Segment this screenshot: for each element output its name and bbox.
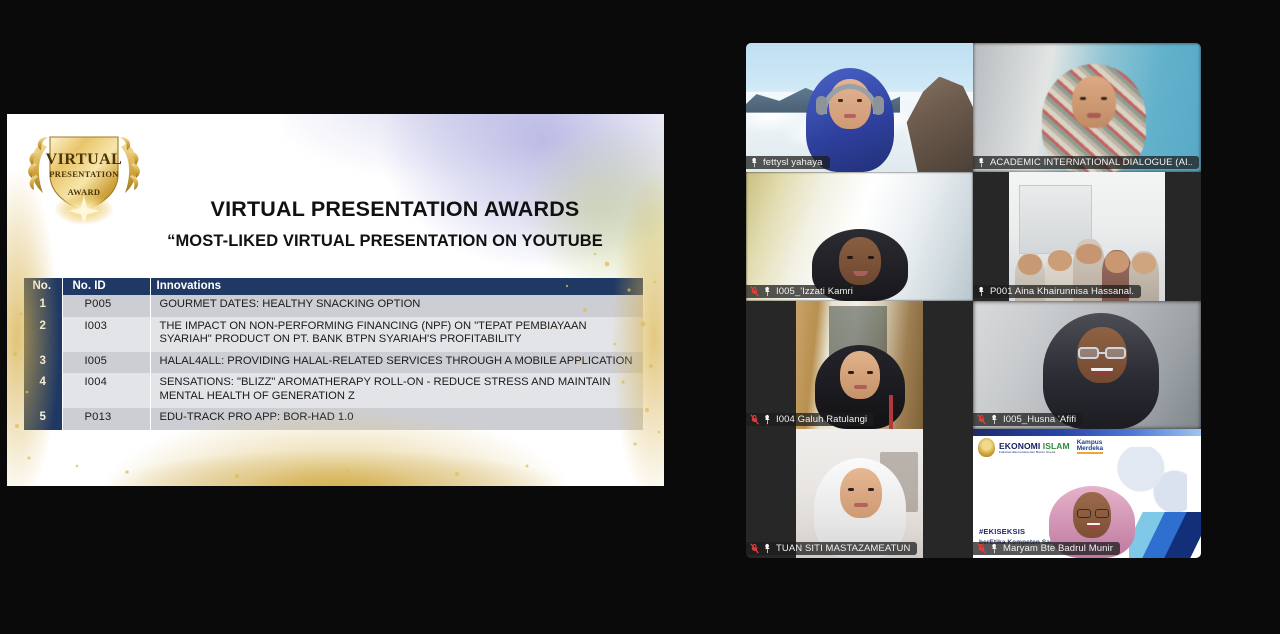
participant-tile[interactable]: EKONOMI ISLAM Fakultas Ekonomika dan Bis… bbox=[973, 429, 1201, 558]
participant-tile[interactable]: ACADEMIC INTERNATIONAL DIALOGUE (AI.. bbox=[973, 43, 1201, 172]
microphone-muted-icon bbox=[750, 414, 759, 425]
participant-namebar: P001 Aina Khairunnisa Hassanal. bbox=[973, 285, 1141, 298]
cell-innovation: SENSATIONS: "BLIZZ" AROMATHERAPY ROLL-ON… bbox=[150, 373, 644, 408]
table-row: 4 I004 SENSATIONS: "BLIZZ" AROMATHERAPY … bbox=[24, 373, 644, 408]
column-header-no-id: No. ID bbox=[62, 278, 150, 295]
video-feed bbox=[746, 429, 973, 558]
participant-name: ACADEMIC INTERNATIONAL DIALOGUE (AI.. bbox=[990, 157, 1192, 168]
virtual-background-top-strip bbox=[973, 429, 1201, 436]
cell-id: I004 bbox=[62, 373, 150, 408]
participant-namebar: I004 Galuh Ratulangi bbox=[746, 413, 874, 426]
video-feed bbox=[973, 43, 1201, 172]
table-row: 5 P013 EDU-TRACK PRO APP: BOR-HAD 1.0 bbox=[24, 408, 644, 430]
video-feed bbox=[746, 43, 973, 172]
cell-no: 2 bbox=[24, 317, 62, 352]
award-badge: VIRTUAL PRESENTATION AWARD bbox=[23, 121, 145, 225]
cell-innovation: HALAL4ALL: PROVIDING HALAL-RELATED SERVI… bbox=[150, 352, 644, 374]
cell-no: 4 bbox=[24, 373, 62, 408]
cell-no: 1 bbox=[24, 295, 62, 317]
participant-name: P001 Aina Khairunnisa Hassanal. bbox=[990, 286, 1134, 297]
cell-id: I003 bbox=[62, 317, 150, 352]
shared-presentation-slide: VIRTUAL PRESENTATION AWARD VIRTUAL PRESE… bbox=[7, 114, 664, 486]
pin-icon bbox=[977, 157, 986, 168]
participant-namebar: ACADEMIC INTERNATIONAL DIALOGUE (AI.. bbox=[973, 156, 1199, 169]
pin-icon bbox=[750, 157, 759, 168]
participant-name: Maryam Bte Badrul Munir bbox=[1003, 543, 1113, 554]
virtual-background-chevrons bbox=[1129, 512, 1201, 558]
pin-icon bbox=[763, 286, 772, 297]
kampus-merdeka-logo: Kampus Merdeka bbox=[1077, 440, 1103, 456]
table-row: 3 I005 HALAL4ALL: PROVIDING HALAL-RELATE… bbox=[24, 352, 644, 374]
video-feed bbox=[746, 172, 973, 301]
participant-namebar: TUAN SITI MASTAZAMEATUN bbox=[746, 542, 917, 555]
unesa-seal-icon bbox=[978, 438, 995, 457]
table-header-row: No. No. ID Innovations bbox=[24, 278, 644, 295]
participant-tile[interactable]: TUAN SITI MASTAZAMEATUN bbox=[746, 429, 973, 558]
participant-name: I004 Galuh Ratulangi bbox=[776, 414, 867, 425]
participant-tile[interactable]: fettysl yahaya bbox=[746, 43, 973, 172]
video-feed bbox=[746, 301, 973, 429]
screenshot-canvas: VIRTUAL PRESENTATION AWARD VIRTUAL PRESE… bbox=[0, 0, 1280, 634]
video-feed bbox=[973, 172, 1201, 301]
pin-icon bbox=[763, 414, 772, 425]
video-participant-grid: fettysl yahaya ACADEMIC INTERNATIONAL DI… bbox=[746, 43, 1201, 558]
cell-innovation: EDU-TRACK PRO APP: BOR-HAD 1.0 bbox=[150, 408, 644, 430]
participant-name: TUAN SITI MASTAZAMEATUN bbox=[776, 543, 910, 554]
pin-icon bbox=[990, 414, 999, 425]
microphone-muted-icon bbox=[977, 414, 986, 425]
brand-name: EKONOMI ISLAM bbox=[999, 442, 1070, 450]
microphone-muted-icon bbox=[750, 543, 759, 554]
microphone-muted-icon bbox=[750, 286, 759, 297]
virtual-background-hashtag: #EKISEKSIS bbox=[979, 527, 1025, 536]
slide-title: VIRTUAL PRESENTATION AWARDS bbox=[155, 197, 635, 222]
participant-namebar: I005_'Izzati Kamri bbox=[746, 285, 860, 298]
participant-namebar: fettysl yahaya bbox=[746, 156, 830, 169]
virtual-background-logo-row: EKONOMI ISLAM Fakultas Ekonomika dan Bis… bbox=[978, 438, 1103, 457]
column-header-no: No. bbox=[24, 278, 62, 295]
cell-innovation: GOURMET DATES: HEALTHY SNACKING OPTION bbox=[150, 295, 644, 317]
kampus-merdeka-line-2: Merdeka bbox=[1077, 445, 1103, 452]
participant-tile[interactable]: I005_'Izzati Kamri bbox=[746, 172, 973, 301]
participant-tile[interactable]: I004 Galuh Ratulangi bbox=[746, 301, 973, 429]
pin-icon bbox=[763, 543, 772, 554]
column-header-innovations: Innovations bbox=[150, 278, 644, 295]
participant-tile[interactable]: P001 Aina Khairunnisa Hassanal. bbox=[973, 172, 1201, 301]
video-feed bbox=[973, 301, 1201, 429]
badge-line-presentation: PRESENTATION bbox=[23, 170, 145, 179]
slide-subtitle: “MOST-LIKED VIRTUAL PRESENTATION ON YOUT… bbox=[125, 232, 645, 251]
cell-innovation: THE IMPACT ON NON-PERFORMING FINANCING (… bbox=[150, 317, 644, 352]
video-feed: EKONOMI ISLAM Fakultas Ekonomika dan Bis… bbox=[973, 429, 1201, 558]
participant-tile[interactable]: I005_Husna 'Afifi bbox=[973, 301, 1201, 429]
cell-id: I005 bbox=[62, 352, 150, 374]
cell-no: 3 bbox=[24, 352, 62, 374]
participant-name: I005_Husna 'Afifi bbox=[1003, 414, 1076, 425]
table-row: 2 I003 THE IMPACT ON NON-PERFORMING FINA… bbox=[24, 317, 644, 352]
participant-name: fettysl yahaya bbox=[763, 157, 823, 168]
badge-line-award: AWARD bbox=[23, 187, 145, 197]
awards-table: No. No. ID Innovations 1 P005 GOURMET DA… bbox=[24, 278, 644, 430]
microphone-muted-icon bbox=[977, 543, 986, 554]
cell-id: P013 bbox=[62, 408, 150, 430]
pin-icon bbox=[977, 286, 986, 297]
cell-id: P005 bbox=[62, 295, 150, 317]
cell-no: 5 bbox=[24, 408, 62, 430]
badge-line-virtual: VIRTUAL bbox=[23, 151, 145, 169]
participant-namebar: Maryam Bte Badrul Munir bbox=[973, 542, 1120, 555]
participant-name: I005_'Izzati Kamri bbox=[776, 286, 853, 297]
table-row: 1 P005 GOURMET DATES: HEALTHY SNACKING O… bbox=[24, 295, 644, 317]
pin-icon bbox=[990, 543, 999, 554]
participant-namebar: I005_Husna 'Afifi bbox=[973, 413, 1083, 426]
